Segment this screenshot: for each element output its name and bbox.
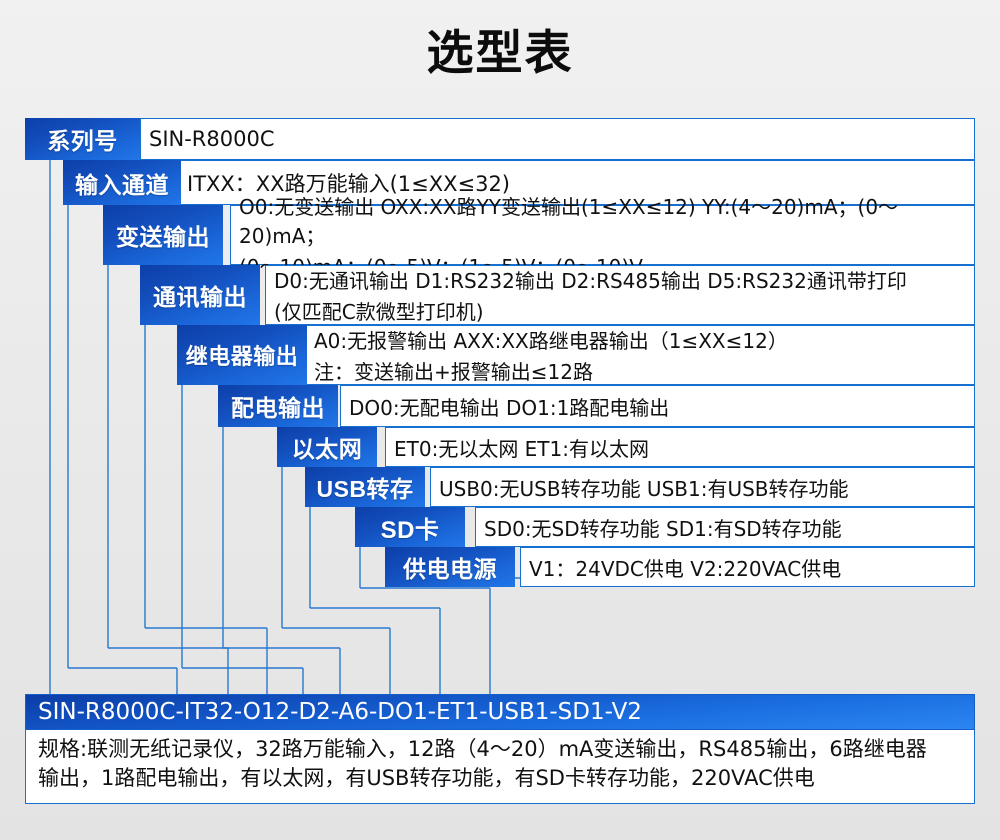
row-value-line-1: O0:无变送输出 OXX:XX路YY变送输出(1≤XX≤12) YY:(4～20… — [239, 191, 974, 249]
spec-row: USB0:无USB转存功能 USB1:有USB转存功能USB转存 — [0, 467, 1000, 507]
row-label-tag: 系列号 — [25, 118, 140, 160]
row-label-text: 输入通道 — [75, 166, 169, 200]
spec-row: O0:无变送输出 OXX:XX路YY变送输出(1≤XX≤12) YY:(4～20… — [0, 205, 1000, 265]
row-label-tag: 通讯输出 — [140, 265, 260, 325]
spec-line-1: 规格:联测无纸记录仪，32路万能输入，12路（4～20）mA变送输出，RS485… — [38, 735, 964, 764]
spec-row: DO0:无配电输出 DO1:1路配电输出配电输出 — [0, 385, 1000, 427]
row-value-line-1: ET0:无以太网 ET1:有以太网 — [394, 433, 649, 462]
model-code-text: SIN-R8000C-IT32-O12-D2-A6-DO1-ET1-USB1-S… — [38, 699, 642, 725]
row-label-text: 系列号 — [47, 122, 118, 156]
row-label-tag: 变送输出 — [103, 205, 223, 265]
row-value-box: O0:无变送输出 OXX:XX路YY变送输出(1≤XX≤12) YY:(4～20… — [230, 205, 975, 265]
row-label-tag: 配电输出 — [218, 385, 338, 427]
row-value-box: A0:无报警输出 AXX:XX路继电器输出（1≤XX≤12）注：变送输出+报警输… — [305, 325, 975, 385]
row-value-line-1: V1：24VDC供电 V2:220VAC供电 — [529, 553, 841, 582]
row-label-tag: 继电器输出 — [177, 325, 307, 385]
row-label-text: 继电器输出 — [186, 339, 299, 371]
row-label-text: 通讯输出 — [153, 278, 247, 312]
row-label-text: SD卡 — [381, 510, 440, 545]
row-value-line-1: USB0:无USB转存功能 USB1:有USB转存功能 — [439, 473, 849, 502]
row-label-tag: USB转存 — [305, 467, 425, 507]
row-label-text: 变送输出 — [116, 218, 210, 252]
spec-line-2: 输出，1路配电输出，有以太网，有USB转存功能，有SD卡转存功能，220VAC供… — [38, 764, 964, 793]
spec-description-box: 规格:联测无纸记录仪，32路万能输入，12路（4～20）mA变送输出，RS485… — [25, 730, 975, 804]
row-value-line-1: SIN-R8000C — [149, 127, 275, 151]
spec-row: ET0:无以太网 ET1:有以太网以太网 — [0, 427, 1000, 467]
row-value-line-2: (仅匹配C款微型打印机) — [274, 296, 907, 325]
model-code-bar: SIN-R8000C-IT32-O12-D2-A6-DO1-ET1-USB1-S… — [25, 694, 975, 730]
row-label-text: 配电输出 — [231, 389, 325, 423]
row-value-line-1: SD0:无SD转存功能 SD1:有SD转存功能 — [484, 513, 842, 542]
row-value-box: ET0:无以太网 ET1:有以太网 — [385, 427, 975, 467]
spec-row: SD0:无SD转存功能 SD1:有SD转存功能SD卡 — [0, 507, 1000, 547]
row-label-tag: SD卡 — [355, 507, 465, 547]
row-label-text: 以太网 — [292, 430, 363, 464]
row-label-tag: 供电电源 — [385, 547, 515, 587]
row-value-box: SIN-R8000C — [140, 118, 975, 160]
row-value-line-2: 注：变送输出+报警输出≤12路 — [314, 356, 788, 385]
row-value-box: USB0:无USB转存功能 USB1:有USB转存功能 — [430, 467, 975, 507]
selection-table-page: 选型表 SIN-R8000C系列号ITXX：XX路万能输入(1≤XX≤32)输入… — [0, 0, 1000, 840]
spec-row: V1：24VDC供电 V2:220VAC供电供电电源 — [0, 547, 1000, 587]
row-value-line-1: D0:无通讯输出 D1:RS232输出 D2:RS485输出 D5:RS232通… — [274, 265, 907, 294]
row-value-box: D0:无通讯输出 D1:RS232输出 D2:RS485输出 D5:RS232通… — [265, 265, 975, 325]
row-value-line-1: DO0:无配电输出 DO1:1路配电输出 — [349, 392, 669, 421]
spec-row: SIN-R8000C系列号 — [0, 118, 1000, 160]
row-value-box: DO0:无配电输出 DO1:1路配电输出 — [340, 385, 975, 427]
spec-row: A0:无报警输出 AXX:XX路继电器输出（1≤XX≤12）注：变送输出+报警输… — [0, 325, 1000, 385]
row-label-tag: 输入通道 — [63, 160, 181, 205]
row-label-text: 供电电源 — [403, 550, 497, 584]
row-label-text: USB转存 — [316, 470, 413, 504]
spec-row: D0:无通讯输出 D1:RS232输出 D2:RS485输出 D5:RS232通… — [0, 265, 1000, 325]
row-value-box: SD0:无SD转存功能 SD1:有SD转存功能 — [475, 507, 975, 547]
row-label-tag: 以太网 — [277, 427, 377, 467]
row-value-box: V1：24VDC供电 V2:220VAC供电 — [520, 547, 975, 587]
row-value-line-1: A0:无报警输出 AXX:XX路继电器输出（1≤XX≤12） — [314, 325, 788, 354]
